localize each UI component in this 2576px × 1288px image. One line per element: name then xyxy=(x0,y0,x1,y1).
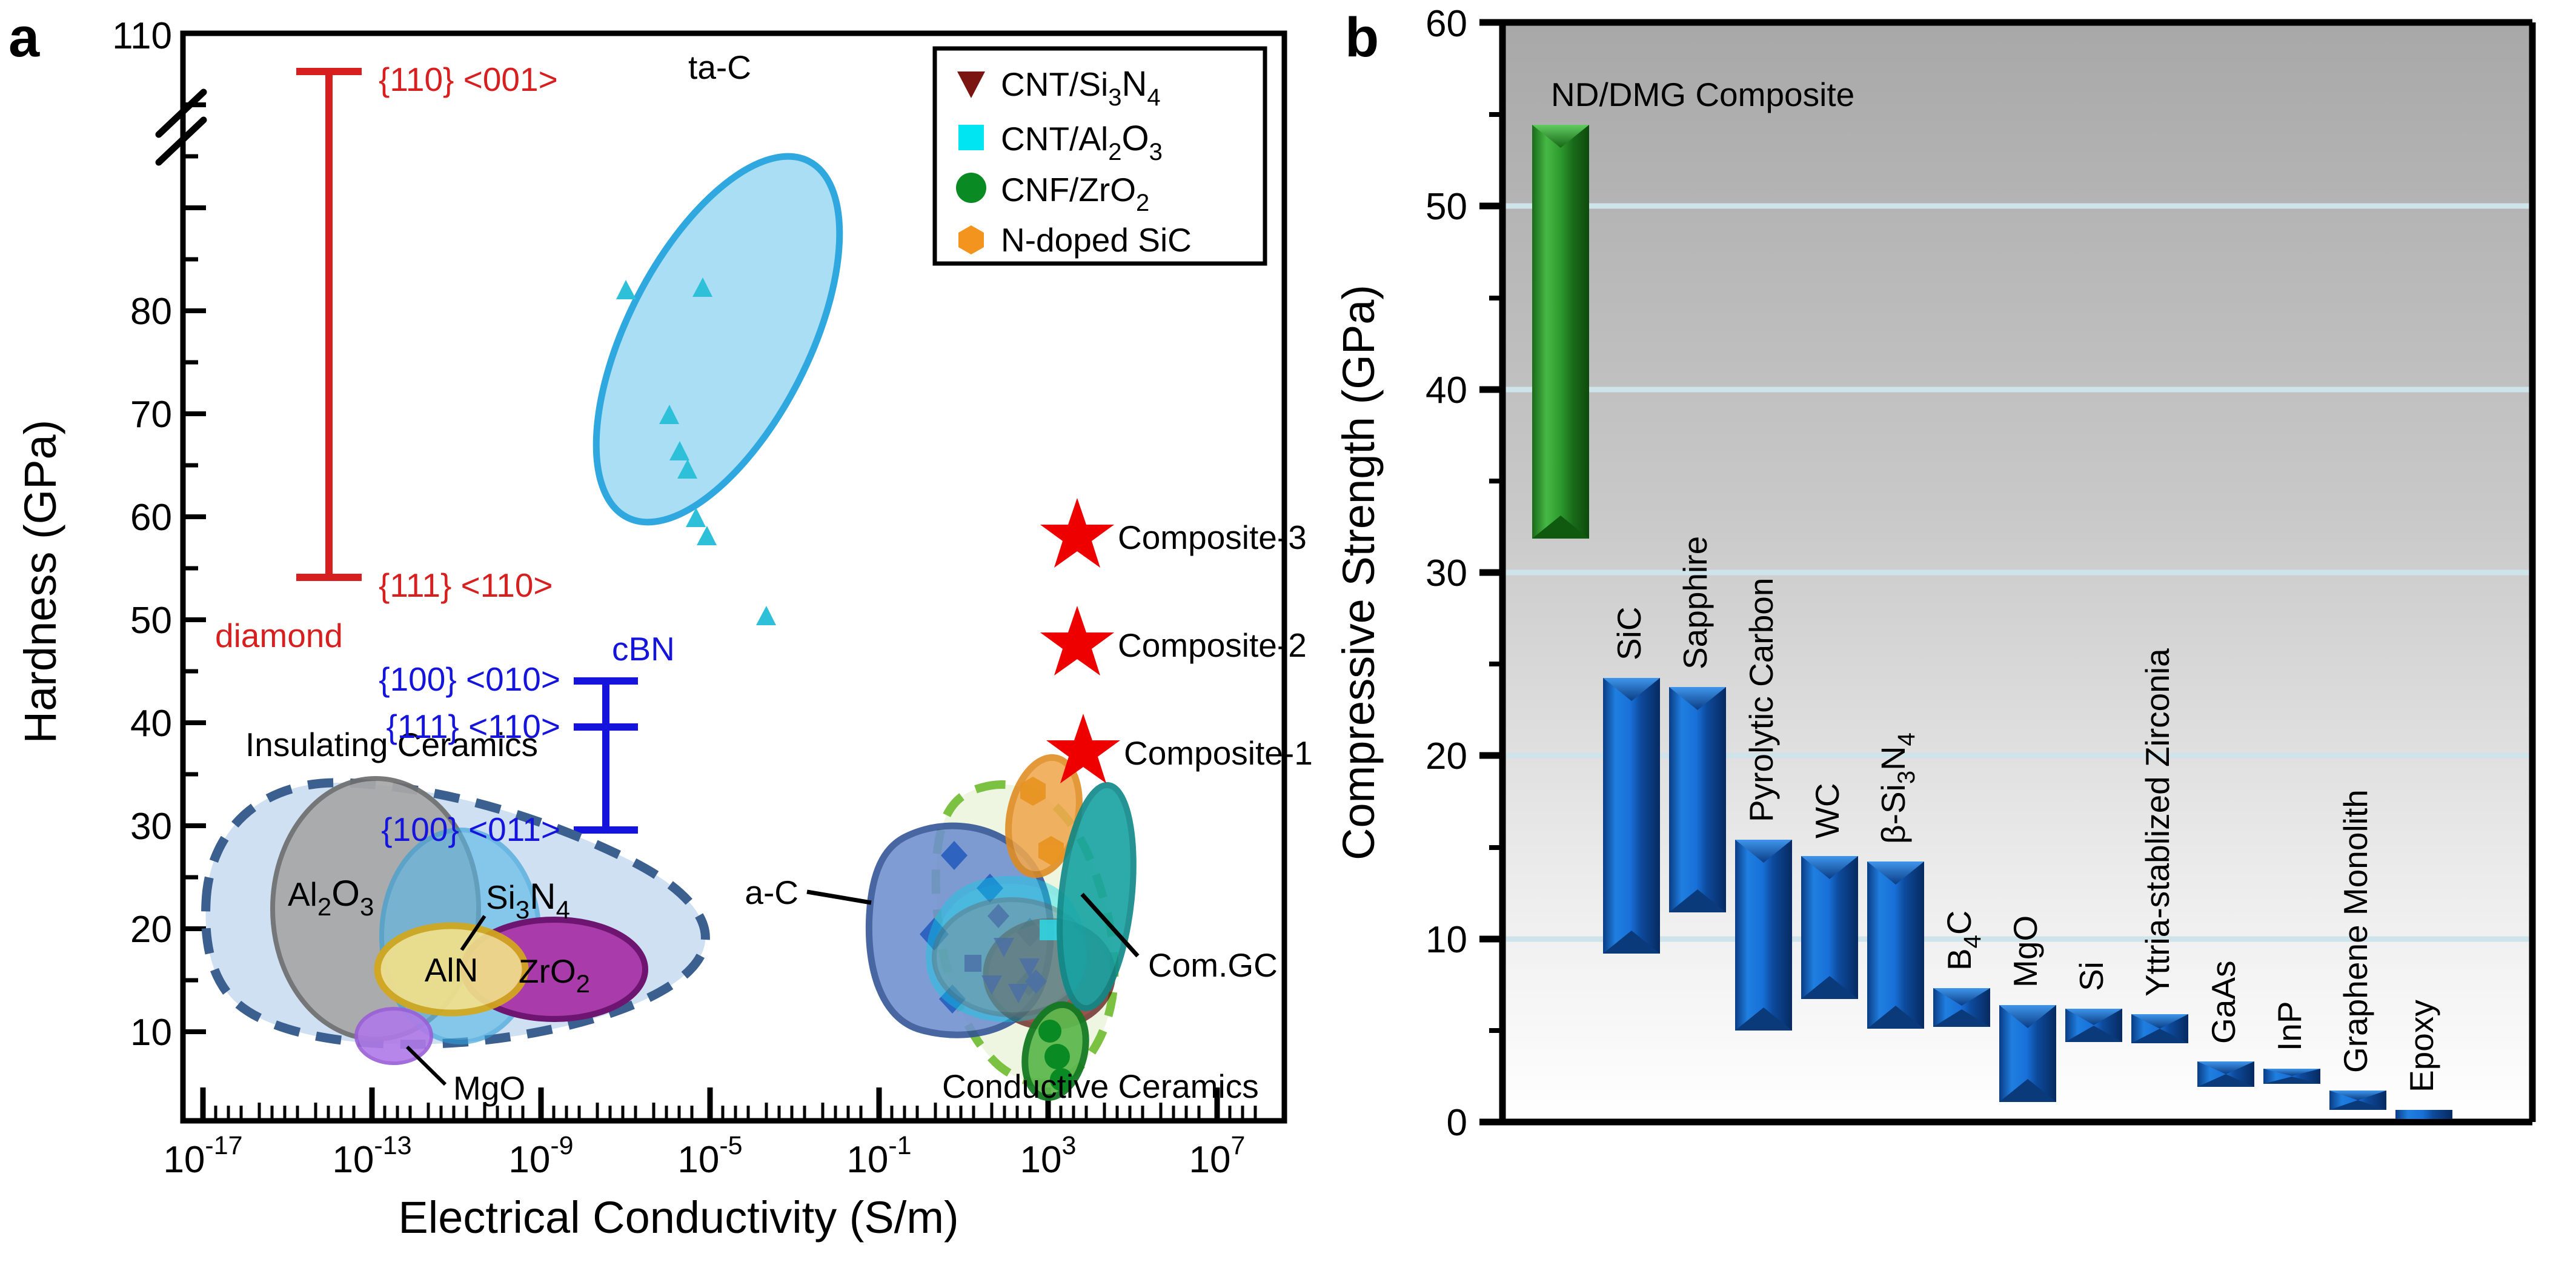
x-tick-a-1: 10-13 xyxy=(332,1131,411,1181)
composite-2-star-icon xyxy=(1040,606,1114,676)
y-tick-b-4: 40 xyxy=(1426,370,1467,411)
bar-pyrolytic-carbon[interactable] xyxy=(1735,840,1792,1031)
aln-label: AlN xyxy=(425,951,479,989)
x-tick-a-4: 10-1 xyxy=(846,1131,911,1181)
bar-yttria-stablized-zirconia[interactable] xyxy=(2131,1014,2188,1043)
bar-label-inp: InP xyxy=(2271,1001,2308,1051)
bar-graphene-monolith[interactable] xyxy=(2329,1090,2386,1110)
bar-label-yttria-stablized-zirconia: Yttria-stablized Zirconia xyxy=(2139,648,2176,997)
ta-c-ellipse xyxy=(546,120,890,559)
bar-b4c[interactable] xyxy=(1933,988,1990,1027)
y-tick-b-6: 60 xyxy=(1426,3,1467,45)
composite-1-label: Composite-1 xyxy=(1124,734,1313,772)
y-tick-a-5: 60 xyxy=(130,497,172,539)
ta-c-cluster xyxy=(546,120,890,625)
conductive-ceramics-label: Conductive Ceramics xyxy=(942,1067,1259,1105)
bar-label-si: Si xyxy=(2073,961,2110,991)
diamond-bottom-label: {111} <110> xyxy=(379,566,553,604)
y-tick-b-1: 10 xyxy=(1426,919,1467,961)
bar-mgo[interactable] xyxy=(1999,1005,2056,1102)
cbn-label: cBN xyxy=(612,630,675,668)
y-tick-a-8: 110 xyxy=(112,15,172,57)
panel-a: a xyxy=(0,0,1321,1288)
y-axis-title-a: Hardness (GPa) xyxy=(15,420,65,744)
bar-sapphire[interactable] xyxy=(1669,687,1726,912)
figure-root: a xyxy=(0,0,2576,1288)
legend-a: CNT/Si3N4 CNT/Al2O3 CNF/ZrO2 N-doped SiC xyxy=(935,48,1265,264)
bar-beta-si3n4[interactable] xyxy=(1867,861,1924,1029)
bar-gaas[interactable] xyxy=(2197,1061,2254,1087)
a-c-label: a-C xyxy=(745,874,798,911)
ta-c-label: ta-C xyxy=(688,48,751,86)
mgo-label: MgO xyxy=(453,1069,525,1107)
y-tick-a-6: 70 xyxy=(130,394,172,436)
bar-wc[interactable] xyxy=(1801,856,1858,999)
x-tick-a-6: 107 xyxy=(1189,1131,1246,1181)
cbn-bottom-label: {100} <011> xyxy=(381,811,560,848)
bar-label-mgo: MgO xyxy=(2007,915,2044,988)
x-axis-title-a: Electrical Conductivity (S/m) xyxy=(398,1192,958,1243)
y-tick-a-0: 10 xyxy=(130,1012,172,1054)
com-gc-label: Com.GC xyxy=(1148,946,1278,984)
y-tick-b-0: 0 xyxy=(1447,1102,1467,1144)
legend-marker-circle-icon[interactable] xyxy=(956,173,986,203)
composite-3-star-icon xyxy=(1040,498,1114,568)
bar-label-gaas: GaAs xyxy=(2205,960,2242,1044)
legend-label-3: N-doped SiC xyxy=(1001,221,1192,259)
panel-b: b xyxy=(1321,0,2576,1288)
bar-label-epoxy: Epoxy xyxy=(2403,1000,2440,1092)
y-tick-a-2: 30 xyxy=(130,806,172,848)
composite-3-label: Composite-3 xyxy=(1118,519,1307,556)
diamond-range-bar xyxy=(296,71,362,577)
composite-stars: Composite-3 Composite-2 Composite-1 xyxy=(1040,498,1313,783)
x-tick-a-2: 10-9 xyxy=(508,1131,573,1181)
composite-2-label: Composite-2 xyxy=(1118,626,1307,664)
x-tick-a-5: 103 xyxy=(1020,1131,1077,1181)
y-tick-a-1: 20 xyxy=(130,909,172,951)
y-tick-a-3: 40 xyxy=(130,703,172,745)
y-tick-a-7: 80 xyxy=(130,291,172,333)
bar-sic[interactable] xyxy=(1603,678,1660,954)
mgo-ellipse xyxy=(356,1009,431,1063)
y-axis-title-b: Compressive Strength (GPa) xyxy=(1333,285,1384,860)
bar-si[interactable] xyxy=(2065,1009,2122,1042)
cbn-top-label: {100} <010> xyxy=(379,660,560,698)
x-tick-a-3: 10-5 xyxy=(677,1131,742,1181)
bar-label-pyrolytic-carbon: Pyrolytic Carbon xyxy=(1742,578,1780,822)
a-c-leader-line xyxy=(807,892,871,903)
legend-marker-square-icon[interactable] xyxy=(958,125,984,150)
y-tick-b-2: 20 xyxy=(1426,735,1467,777)
bar-label-wc: WC xyxy=(1808,783,1846,838)
y-axis-ticks-b xyxy=(1479,22,1502,1122)
panel-a-svg: 10 20 30 40 50 60 70 80 110 Hardness (GP… xyxy=(0,0,1321,1288)
bar-label-nd-dmg-composite: ND/DMG Composite xyxy=(1551,76,1854,113)
bar-label-graphene-monolith: Graphene Monolith xyxy=(2337,789,2374,1073)
bar-nd-dmg-composite[interactable] xyxy=(1532,125,1589,539)
panel-b-svg: 0 10 20 30 40 50 60 Compressive Strength… xyxy=(1321,0,2576,1288)
cbn-mid-label: {111} <110> xyxy=(386,708,560,745)
bar-epoxy[interactable] xyxy=(2395,1110,2452,1119)
y-tick-a-4: 50 xyxy=(130,600,172,642)
bar-label-sapphire: Sapphire xyxy=(1676,536,1714,669)
bar-inp[interactable] xyxy=(2263,1069,2320,1084)
diamond-label: diamond xyxy=(215,617,343,654)
y-tick-b-5: 50 xyxy=(1426,186,1467,228)
y-tick-b-3: 30 xyxy=(1426,553,1467,594)
diamond-top-label: {110} <001> xyxy=(379,61,558,98)
bar-label-sic: SiC xyxy=(1610,606,1648,660)
x-tick-a-0: 10-17 xyxy=(163,1131,242,1181)
cbn-range-bar xyxy=(574,681,638,830)
x-tick-labels-a: 10-17 10-13 10-9 10-5 10-1 103 107 xyxy=(163,1131,1245,1181)
